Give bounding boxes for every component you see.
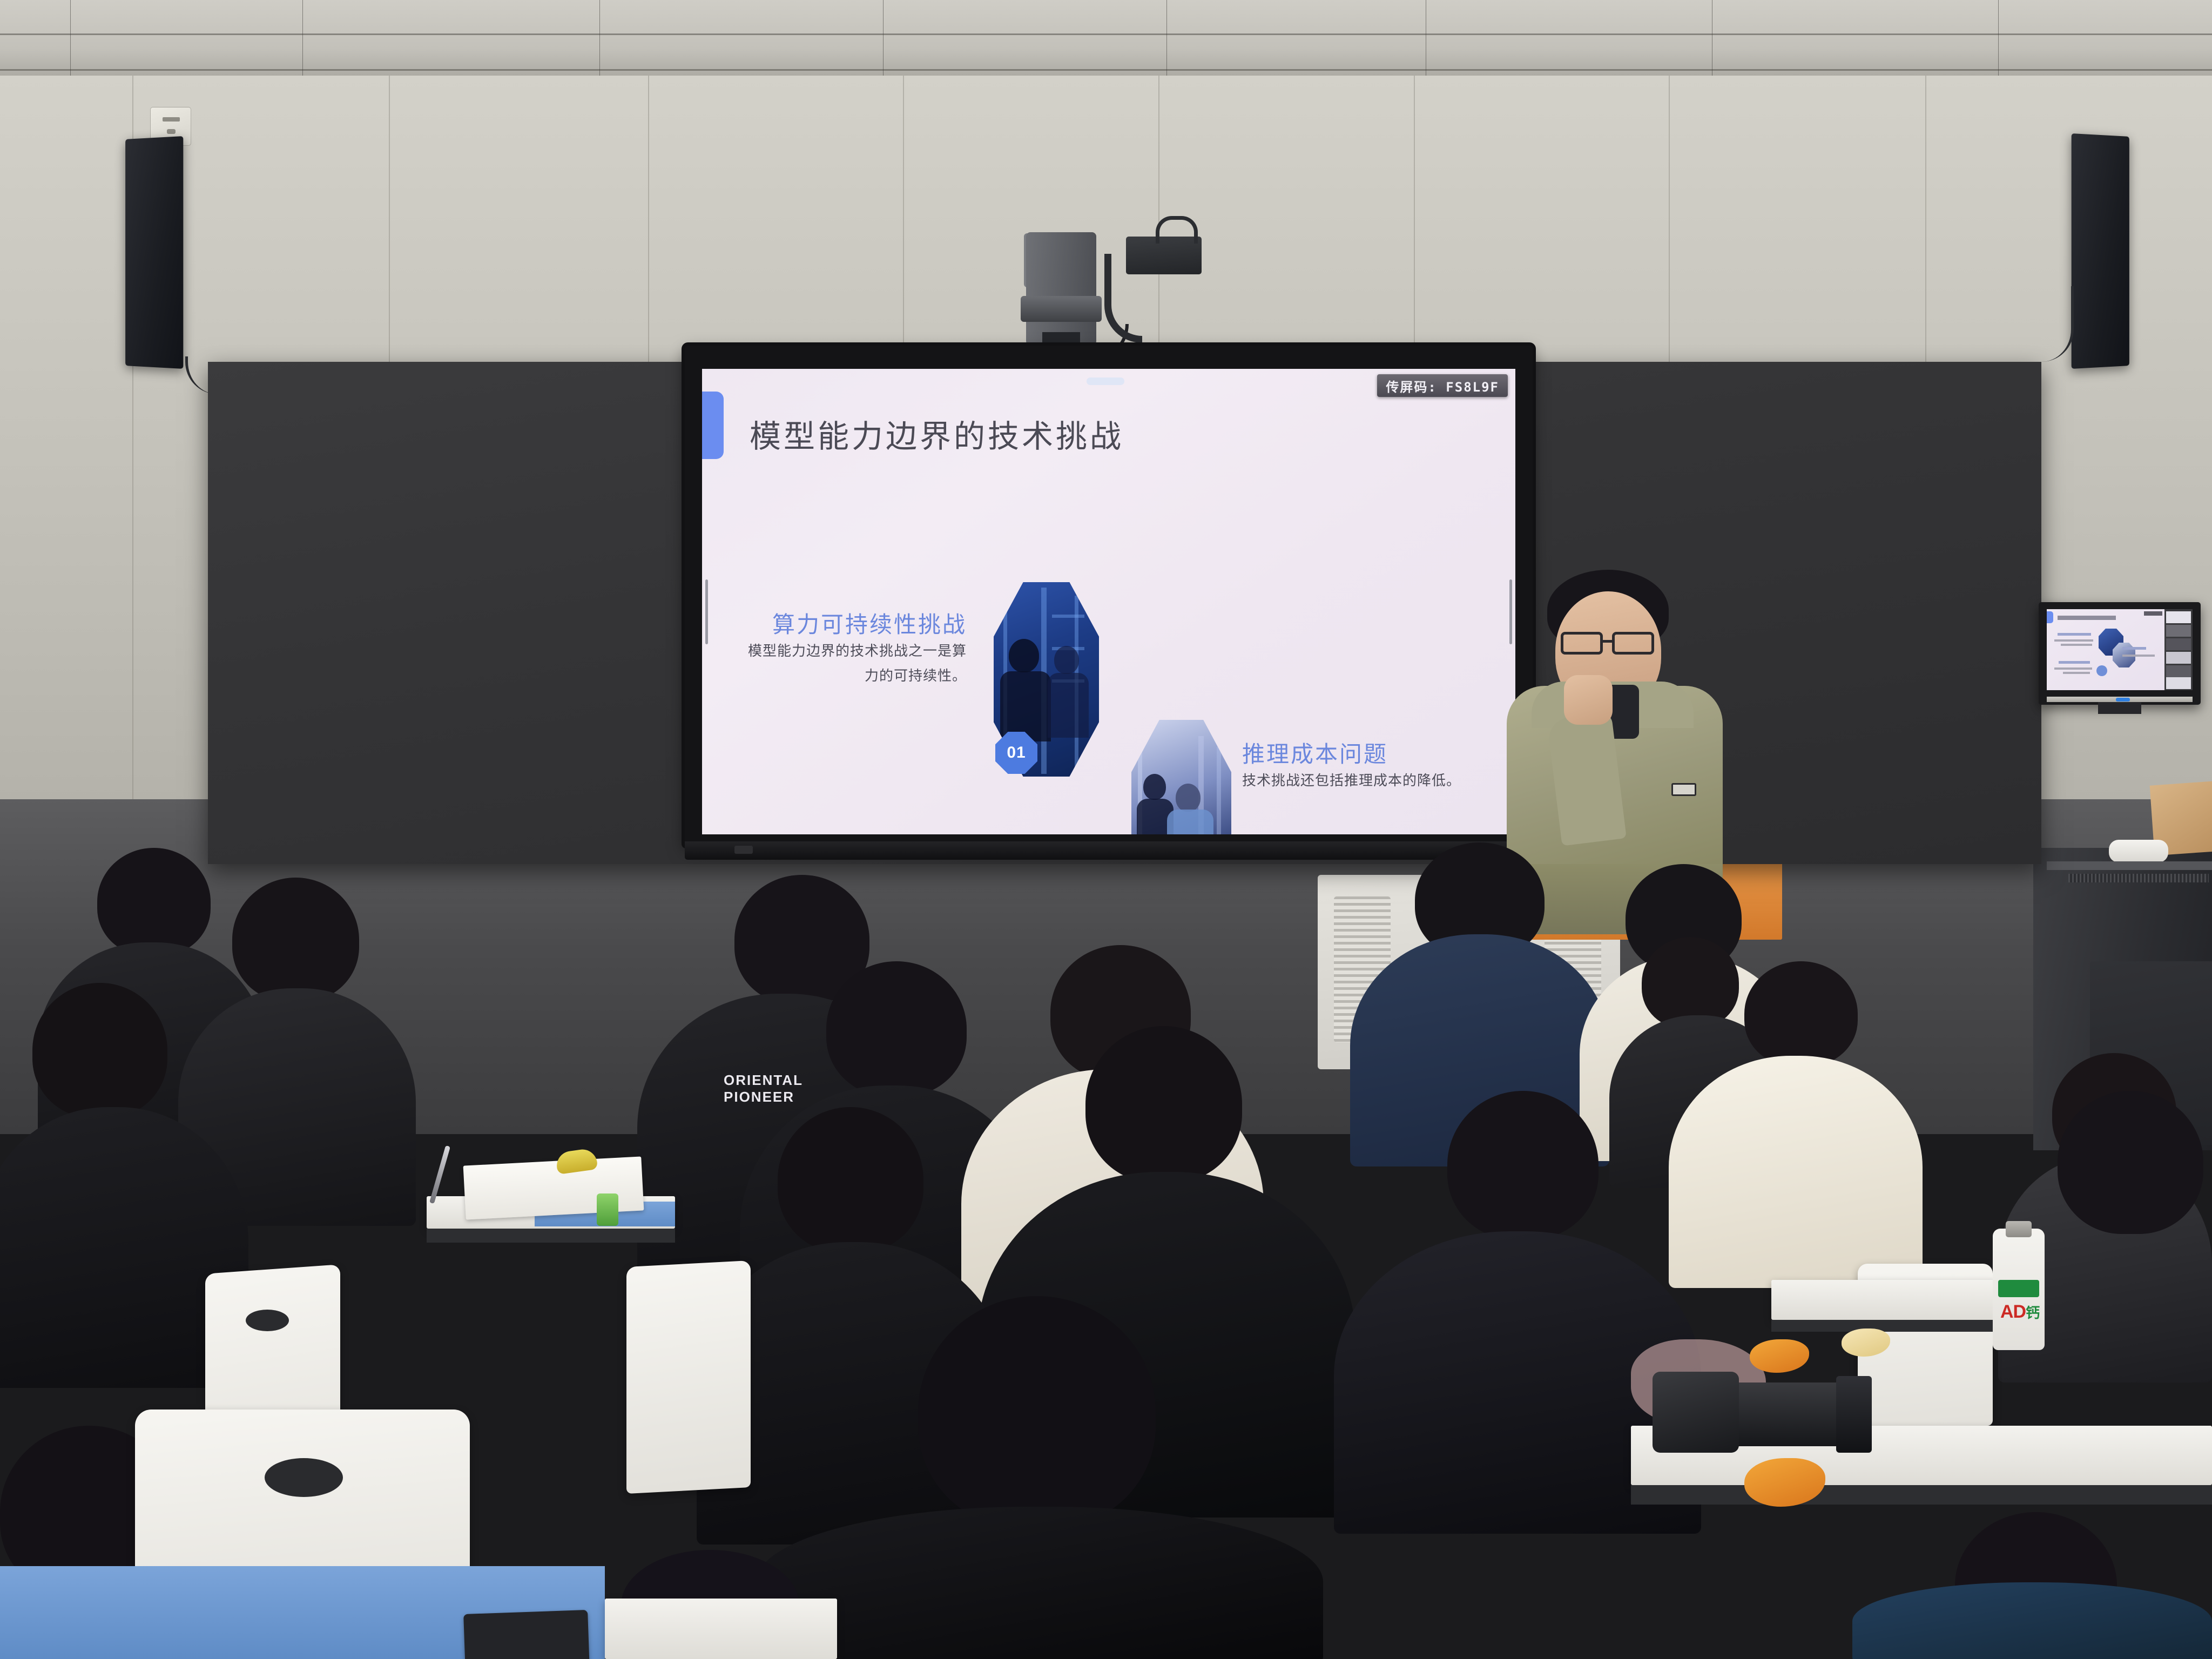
chair[interactable]	[626, 1260, 751, 1494]
white-av-device	[2109, 840, 2168, 862]
slide-block-body: 技术挑战还包括推理成本的降低。	[1242, 769, 1474, 794]
rack-shelf	[2047, 861, 2212, 870]
bottle-cap	[2006, 1221, 2032, 1237]
lecture-hall-scene: 模型能力边界的技术挑战 算力可持续性挑战 模型能力边界的技术挑战之一是算力的可持…	[0, 0, 2212, 1659]
glasses-icon	[1561, 632, 1603, 655]
scroll-tick	[1509, 579, 1512, 644]
pen	[429, 1145, 450, 1204]
monitor-power-led-icon	[2116, 698, 2130, 702]
title-accent-bar	[702, 392, 724, 459]
chair-handle-cutout	[246, 1310, 289, 1331]
slide-block-heading: 算力可持续性挑战	[740, 606, 967, 639]
slide-title: 模型能力边界的技术挑战	[750, 411, 1124, 456]
screen-code-badge: 传屏码: FS8L9F	[1377, 374, 1508, 397]
green-bottle	[597, 1193, 618, 1226]
rack-vent	[2068, 874, 2209, 882]
right-wall-speaker	[2072, 133, 2129, 369]
lens-hood	[1836, 1376, 1872, 1453]
slide-media-02	[1131, 720, 1231, 834]
slide-block-02: 推理成本问题 技术挑战还包括推理成本的降低。	[1242, 736, 1474, 794]
camera-lens-icon	[1728, 1382, 1852, 1446]
wall-mounted-device	[1126, 237, 1202, 274]
ceiling-grid	[0, 0, 2212, 81]
desk	[1771, 1280, 1998, 1320]
slide-block-01: 算力可持续性挑战 模型能力边界的技术挑战之一是算力的可持续性。	[740, 606, 967, 689]
glasses-icon	[1612, 632, 1654, 655]
ad-calcium-milk-bottle: AD钙	[1993, 1229, 2045, 1350]
slide-block-body: 模型能力边界的技术挑战之一是算力的可持续性。	[740, 639, 967, 689]
orange-peel	[1750, 1339, 1809, 1373]
camera-base	[1021, 296, 1102, 322]
confidence-monitor-screen	[2047, 609, 2193, 690]
smartphone[interactable]	[463, 1610, 590, 1659]
slide-notch	[1087, 377, 1124, 385]
ir-receiver-icon	[734, 846, 753, 854]
presenter-hand	[1564, 675, 1613, 725]
speaker-cable	[2009, 286, 2074, 362]
jacket-brand-patch	[1671, 783, 1696, 796]
bottle-label-band	[1998, 1280, 2039, 1297]
jacket-logo-text: ORIENTAL PIONEER	[724, 1072, 802, 1105]
dslr-camera	[1653, 1372, 1739, 1453]
chair-handle-cutout	[265, 1458, 343, 1497]
presentation-slide[interactable]: 模型能力边界的技术挑战 算力可持续性挑战 模型能力边界的技术挑战之一是算力的可持…	[702, 369, 1515, 834]
left-wall-speaker	[125, 136, 183, 369]
bottle-brand-text: AD钙	[2000, 1301, 2039, 1323]
scroll-tick	[705, 579, 708, 644]
display-bottom-bar	[685, 841, 1533, 860]
monitor-stand	[2098, 702, 2141, 714]
slide-block-heading: 推理成本问题	[1242, 736, 1474, 769]
desk	[605, 1599, 837, 1659]
